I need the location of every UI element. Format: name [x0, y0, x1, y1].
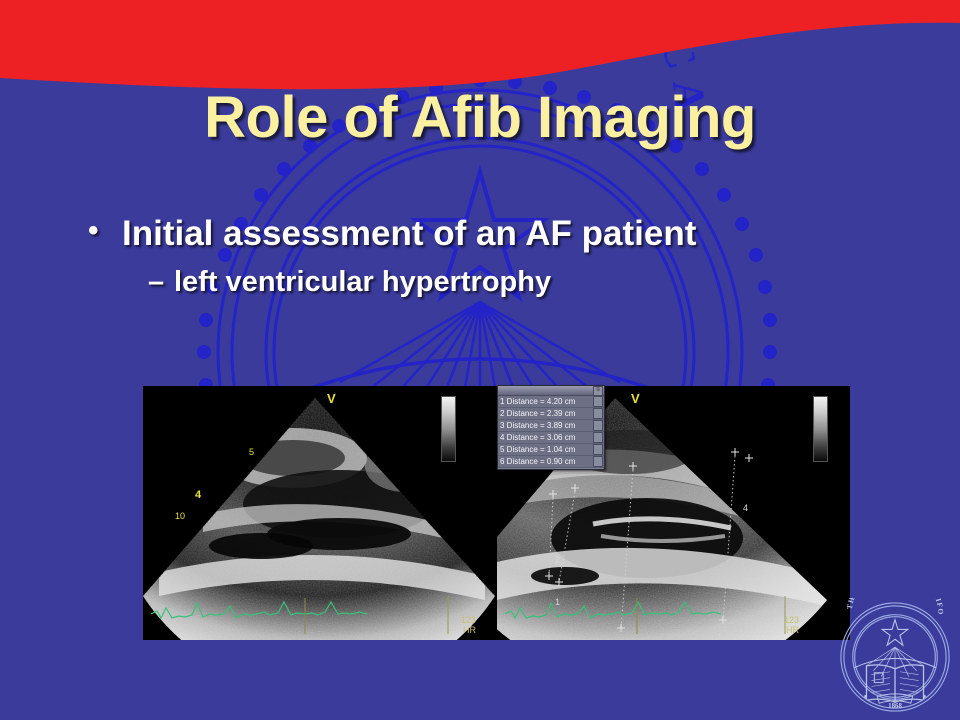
view-marker-right: V [631, 392, 640, 405]
bullet-dash-icon: – [148, 266, 174, 299]
bullet-level1-text: Initial assessment of an AF patient [122, 214, 696, 253]
heart-rate-unit-right: HR [784, 625, 799, 635]
measurement-results-window[interactable]: ≡ 1 Distance = 4.20 cm 2 Distance = 2.39… [497, 385, 605, 470]
depth-label-10-left: 10 [175, 512, 185, 521]
caliper-label-1: 1 [555, 598, 560, 607]
heart-rate-value-left: 123 [461, 615, 476, 625]
view-marker-left: V [327, 392, 336, 405]
row-handle-icon[interactable] [593, 444, 603, 455]
measurement-text: 3 Distance = 3.89 cm [498, 421, 593, 431]
measurement-row[interactable]: 6 Distance = 0.90 cm [498, 456, 604, 468]
heart-rate-unit-left: HR [461, 625, 476, 635]
corner-seal-watermark: THE UNIVERSITY OF CALIFORNIA 1868 [836, 598, 954, 716]
measurement-row[interactable]: 2 Distance = 2.39 cm [498, 408, 604, 420]
row-handle-icon[interactable] [593, 408, 603, 419]
row-handle-icon[interactable] [593, 420, 603, 431]
svg-text:THE UNIVERSITY OF CALIFORNIA: THE UNIVERSITY OF CALIFORNIA [836, 598, 945, 616]
measurement-row[interactable]: 3 Distance = 3.89 cm [498, 420, 604, 432]
row-handle-icon[interactable] [593, 396, 603, 407]
measurement-row[interactable]: 1 Distance = 4.20 cm [498, 396, 604, 408]
measurement-text: 2 Distance = 2.39 cm [498, 409, 593, 419]
measurement-text: 1 Distance = 4.20 cm [498, 397, 593, 407]
measurement-row[interactable]: 5 Distance = 1.04 cm [498, 444, 604, 456]
heart-rate-value-right: 123 [784, 615, 799, 625]
heart-rate-left: 123 HR [461, 615, 476, 635]
seal-year: 1868 [888, 703, 902, 710]
measurement-text: 5 Distance = 1.04 cm [498, 445, 593, 455]
row-handle-icon[interactable] [593, 432, 603, 443]
caliper-label-2: 2 [555, 556, 560, 565]
bullet-level1: •Initial assessment of an AF patient [88, 214, 908, 254]
page-title: Role of Afib Imaging [0, 84, 960, 151]
bullet-level2-text: left ventricular hypertrophy [174, 266, 551, 298]
bullet-level2: –left ventricular hypertrophy [148, 266, 908, 299]
measurement-text: 4 Distance = 3.06 cm [498, 433, 593, 443]
focus-marker-left: 4 [195, 490, 201, 501]
depth-label-5-left: 5 [249, 448, 254, 457]
row-handle-icon[interactable] [593, 456, 603, 467]
heart-rate-right: 123 HR [784, 615, 799, 635]
grayscale-reference-bar-left [441, 396, 456, 462]
measurement-window-titlebar[interactable]: ≡ [498, 386, 604, 396]
grayscale-reference-bar-right [813, 396, 828, 462]
measurement-text: 6 Distance = 0.90 cm [498, 457, 593, 467]
menu-icon[interactable]: ≡ [593, 386, 603, 396]
measurement-row[interactable]: 4 Distance = 3.06 cm [498, 432, 604, 444]
slide-canvas: UNIVERSITY OF CALIFO [0, 0, 960, 720]
bullet-dot-icon: • [88, 214, 122, 248]
caliper-label-4: 4 [743, 504, 748, 513]
measurement-rows: 1 Distance = 4.20 cm 2 Distance = 2.39 c… [498, 396, 604, 468]
echo-pane-left: V 5 10 4 123 HR [143, 386, 496, 640]
